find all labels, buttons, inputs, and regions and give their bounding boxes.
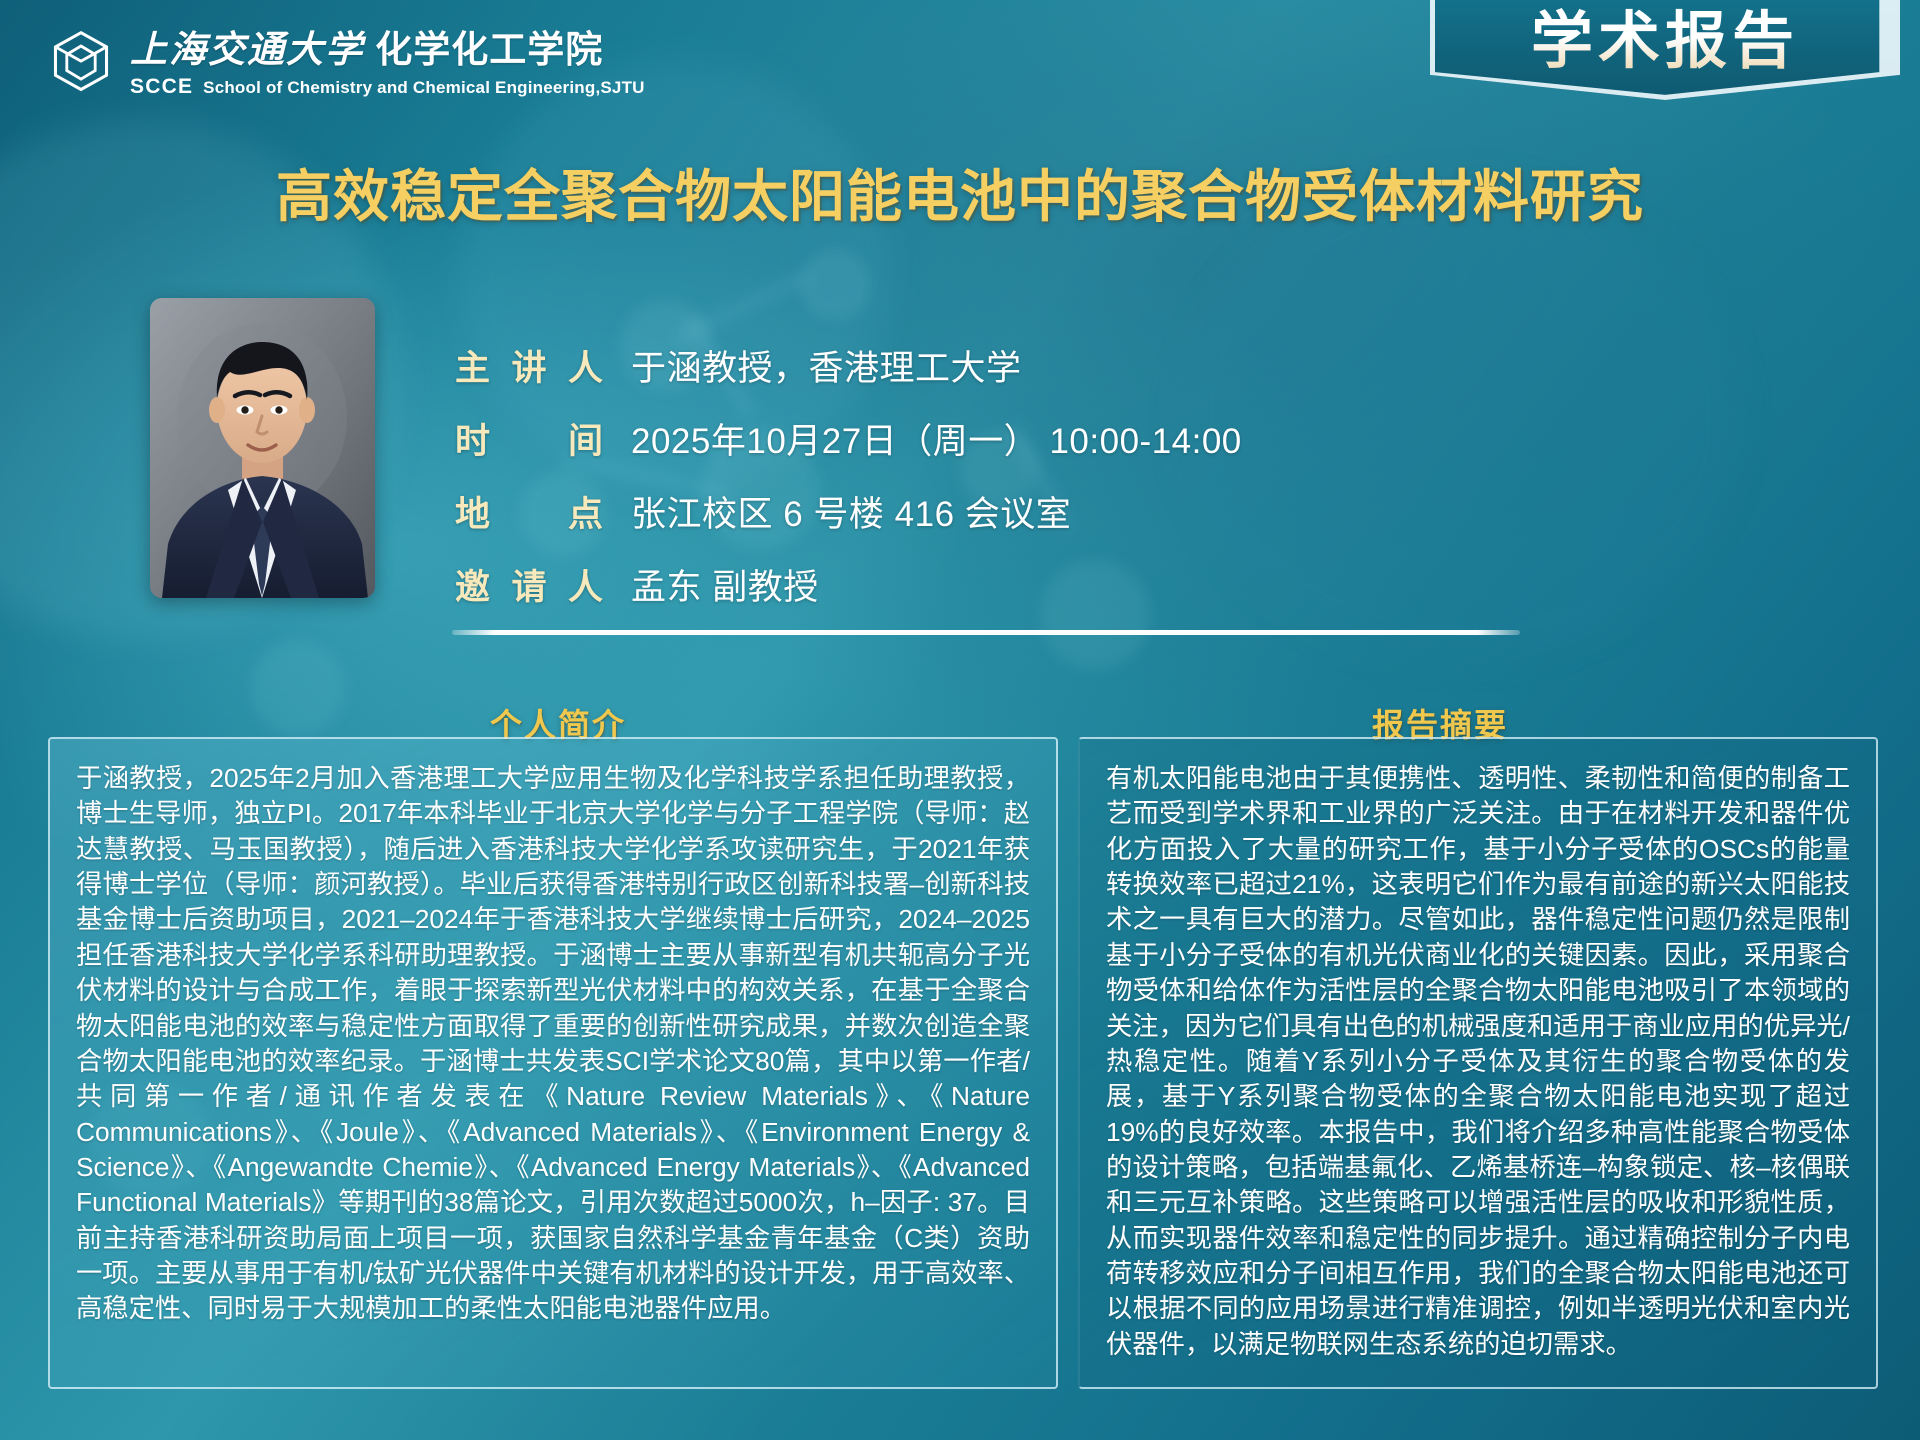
badge-label: 学术报告 xyxy=(1430,0,1900,100)
label-char: 人 xyxy=(568,559,605,610)
info-label-speaker: 主 讲 人 xyxy=(455,340,605,391)
info-value-time: 2025年10月27日（周一） 10:00-14:00 xyxy=(631,413,1242,464)
abstract-panel: 有机太阳能电池由于其便携性、透明性、柔韧性和简便的制备工艺而受到学术界和工业界的… xyxy=(1078,737,1878,1389)
label-char: 讲 xyxy=(511,340,548,391)
logo-english-name: School of Chemistry and Chemical Enginee… xyxy=(203,78,645,98)
info-label-host: 邀 请 人 xyxy=(455,559,605,610)
info-row-time: 时 间 2025年10月27日（周一） 10:00-14:00 xyxy=(455,413,1242,464)
label-char: 时 xyxy=(455,413,492,464)
event-info: 主 讲 人 于涵教授，香港理工大学 时 间 2025年10月27日（周一） 10… xyxy=(455,340,1242,632)
label-char: 地 xyxy=(455,486,492,537)
label-char: 间 xyxy=(568,413,605,464)
info-row-host: 邀 请 人 孟东 副教授 xyxy=(455,559,1242,610)
logo-abbr: SCCE xyxy=(130,75,193,99)
info-row-speaker: 主 讲 人 于涵教授，香港理工大学 xyxy=(455,340,1242,391)
scce-logo: 上海交通大学 化学化工学院 SCCE School of Chemistry a… xyxy=(46,28,645,102)
poster-root: 上海交通大学 化学化工学院 SCCE School of Chemistry a… xyxy=(0,0,1920,1440)
info-label-time: 时 间 xyxy=(455,413,605,464)
section-divider xyxy=(452,630,1520,635)
logo-school-name: 化学化工学院 xyxy=(375,30,603,71)
info-value-host: 孟东 副教授 xyxy=(631,559,819,610)
info-value-speaker: 于涵教授，香港理工大学 xyxy=(631,340,1022,391)
hexagon-molecule-logo-icon xyxy=(46,28,116,102)
label-char: 主 xyxy=(455,340,492,391)
page-title: 高效稳定全聚合物太阳能电池中的聚合物受体材料研究 xyxy=(0,152,1920,233)
info-label-location: 地 点 xyxy=(455,486,605,537)
label-char: 邀 xyxy=(455,559,492,610)
label-char: 请 xyxy=(511,559,548,610)
label-char: 点 xyxy=(568,486,605,537)
poster-header: 上海交通大学 化学化工学院 SCCE School of Chemistry a… xyxy=(0,0,1920,120)
info-value-location: 张江校区 6 号楼 416 会议室 xyxy=(631,486,1071,537)
logo-university-name: 上海交通大学 xyxy=(130,30,364,71)
label-char: 人 xyxy=(568,340,605,391)
academic-report-badge: 学术报告 xyxy=(1430,0,1900,100)
speaker-photo xyxy=(150,298,375,598)
info-row-location: 地 点 张江校区 6 号楼 416 会议室 xyxy=(455,486,1242,537)
bio-panel: 于涵教授，2025年2月加入香港理工大学应用生物及化学科技学系担任助理教授，博士… xyxy=(48,737,1058,1389)
